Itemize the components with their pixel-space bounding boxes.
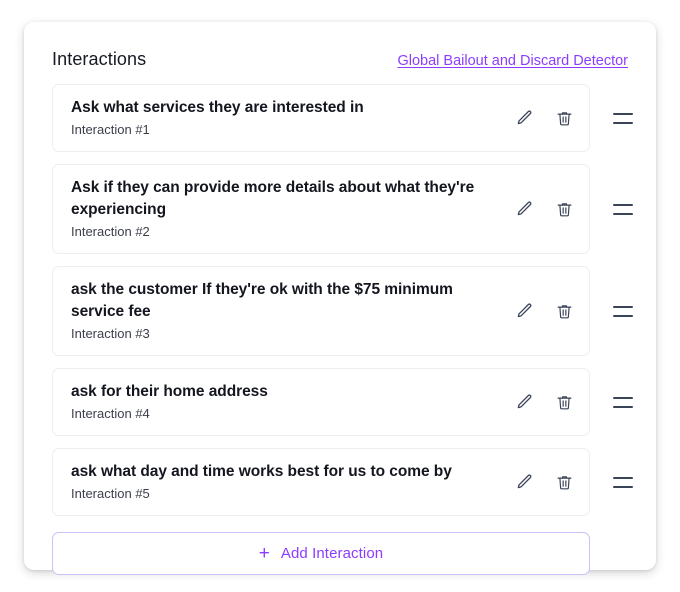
- interaction-actions: [507, 198, 575, 220]
- drag-handle-button[interactable]: [590, 266, 656, 356]
- interaction-card-text: ask for their home address Interaction #…: [71, 381, 507, 423]
- drag-handle-icon: [613, 477, 633, 488]
- interaction-card[interactable]: Ask if they can provide more details abo…: [52, 164, 590, 254]
- interaction-actions: [507, 107, 575, 129]
- interaction-card[interactable]: Ask what services they are interested in…: [52, 84, 590, 152]
- list-item[interactable]: ask for their home address Interaction #…: [52, 368, 656, 436]
- interactions-list: Ask what services they are interested in…: [52, 84, 656, 575]
- trash-icon: [555, 302, 574, 321]
- edit-button[interactable]: [513, 300, 535, 322]
- global-bailout-and-discard-detector-link[interactable]: Global Bailout and Discard Detector: [397, 51, 628, 71]
- interaction-title: Ask if they can provide more details abo…: [71, 177, 499, 221]
- pencil-icon: [514, 108, 534, 128]
- drag-handle-icon: [613, 397, 633, 408]
- interaction-title: ask the customer If they're ok with the …: [71, 279, 499, 323]
- app-root: Interactions Global Bailout and Discard …: [0, 0, 680, 592]
- trash-icon: [555, 473, 574, 492]
- delete-button[interactable]: [553, 198, 575, 220]
- add-interaction-row: + Add Interaction: [52, 528, 656, 575]
- edit-button[interactable]: [513, 198, 535, 220]
- interaction-card-text: ask what day and time works best for us …: [71, 461, 507, 503]
- interaction-title: ask what day and time works best for us …: [71, 461, 499, 483]
- interactions-panel: Interactions Global Bailout and Discard …: [24, 22, 656, 570]
- pencil-icon: [514, 301, 534, 321]
- drag-handle-button[interactable]: [590, 448, 656, 516]
- interaction-title: Ask what services they are interested in: [71, 97, 499, 119]
- edit-button[interactable]: [513, 471, 535, 493]
- interaction-card[interactable]: ask the customer If they're ok with the …: [52, 266, 590, 356]
- interaction-card-text: ask the customer If they're ok with the …: [71, 279, 507, 343]
- delete-button[interactable]: [553, 471, 575, 493]
- interaction-subtitle: Interaction #3: [71, 324, 499, 343]
- interaction-card-text: Ask what services they are interested in…: [71, 97, 507, 139]
- delete-button[interactable]: [553, 391, 575, 413]
- interaction-actions: [507, 300, 575, 322]
- interaction-subtitle: Interaction #1: [71, 120, 499, 139]
- trash-icon: [555, 200, 574, 219]
- drag-handle-button[interactable]: [590, 84, 656, 152]
- interaction-card[interactable]: ask for their home address Interaction #…: [52, 368, 590, 436]
- delete-button[interactable]: [553, 107, 575, 129]
- interaction-title: ask for their home address: [71, 381, 499, 403]
- drag-handle-icon: [613, 113, 633, 124]
- interaction-card[interactable]: ask what day and time works best for us …: [52, 448, 590, 516]
- list-item[interactable]: Ask if they can provide more details abo…: [52, 164, 656, 254]
- page-title: Interactions: [52, 48, 146, 70]
- add-interaction-label: Add Interaction: [281, 545, 383, 562]
- pencil-icon: [514, 472, 534, 492]
- interaction-subtitle: Interaction #4: [71, 404, 499, 423]
- interaction-actions: [507, 391, 575, 413]
- drag-handle-button[interactable]: [590, 164, 656, 254]
- drag-handle-icon: [613, 204, 633, 215]
- interaction-subtitle: Interaction #2: [71, 222, 499, 241]
- list-item[interactable]: Ask what services they are interested in…: [52, 84, 656, 152]
- trash-icon: [555, 393, 574, 412]
- interaction-card-text: Ask if they can provide more details abo…: [71, 177, 507, 241]
- list-item[interactable]: ask the customer If they're ok with the …: [52, 266, 656, 356]
- edit-button[interactable]: [513, 391, 535, 413]
- drag-handle-button[interactable]: [590, 368, 656, 436]
- plus-icon: +: [259, 544, 270, 563]
- add-interaction-button[interactable]: + Add Interaction: [52, 532, 590, 575]
- delete-button[interactable]: [553, 300, 575, 322]
- panel-header: Interactions Global Bailout and Discard …: [52, 48, 628, 74]
- drag-handle-icon: [613, 306, 633, 317]
- list-item[interactable]: ask what day and time works best for us …: [52, 448, 656, 516]
- pencil-icon: [514, 392, 534, 412]
- edit-button[interactable]: [513, 107, 535, 129]
- pencil-icon: [514, 199, 534, 219]
- interaction-subtitle: Interaction #5: [71, 484, 499, 503]
- trash-icon: [555, 109, 574, 128]
- interaction-actions: [507, 471, 575, 493]
